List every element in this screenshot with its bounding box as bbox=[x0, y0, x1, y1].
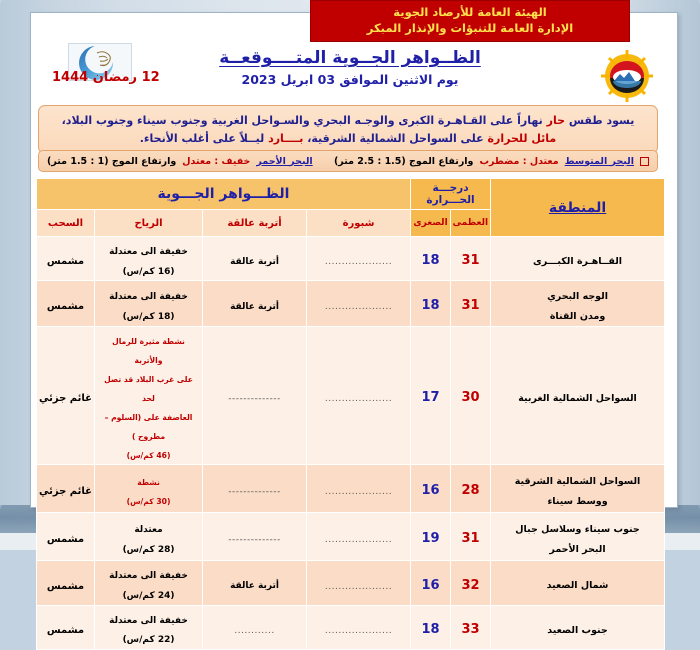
cell-region: السواحل الشمالية الشرقيةووسط سيناء bbox=[491, 465, 665, 513]
cell-fog-text: .................... bbox=[325, 257, 392, 267]
cell-clouds-text: مشمس bbox=[47, 534, 84, 545]
cell-temp-max-text: 32 bbox=[461, 578, 479, 593]
cell-dust: -------------- bbox=[203, 327, 307, 465]
cell-fog: .................... bbox=[307, 561, 411, 605]
table-row: جنوب الصعيد3318.........................… bbox=[37, 605, 665, 649]
cell-temp-min: 19 bbox=[411, 513, 451, 561]
table-header-row-1: المنطقة درجـــة الحـــرارة الظـــواهر ال… bbox=[37, 179, 665, 210]
cell-wind-text: خفيفة الى معتدلة(16 كم/س) bbox=[109, 247, 188, 277]
cell-fog-text: .................... bbox=[325, 535, 392, 545]
cell-temp-max-text: 31 bbox=[461, 253, 479, 268]
cell-temp-max-text: 33 bbox=[461, 622, 479, 637]
table-row: الوجه البحريومدن القناة3118.............… bbox=[37, 281, 665, 327]
summary-part-2: نهاراً على القـاهـرة الكبرى والوجـه البح… bbox=[62, 114, 547, 127]
cell-dust-text: ............ bbox=[234, 626, 274, 636]
cell-wind-text: نشطة(30 كم/س) bbox=[127, 478, 171, 506]
summary-cold-word: بــــارد bbox=[268, 132, 303, 145]
cell-temp-min-text: 17 bbox=[421, 390, 439, 405]
weather-summary: يسود طقس حار نهاراً على القـاهـرة الكبرى… bbox=[38, 105, 658, 154]
cell-temp-max-text: 31 bbox=[461, 298, 479, 313]
cell-temp-min: 18 bbox=[411, 605, 451, 649]
cell-wind-text: خفيفة الى معتدلة(22 كم/س) bbox=[109, 616, 188, 646]
table-row: السواحل الشمالية الغربية3017............… bbox=[37, 327, 665, 465]
hijri-date: 12 رمضان 1444 bbox=[52, 70, 160, 85]
cell-temp-min: 17 bbox=[411, 327, 451, 465]
cell-fog: .................... bbox=[307, 465, 411, 513]
cell-clouds: مشمس bbox=[37, 605, 95, 649]
bullet-square-icon bbox=[640, 157, 649, 166]
cell-clouds-text: مشمس bbox=[47, 581, 84, 592]
summary-part-3: على السواحل الشمالية الشرقية، bbox=[303, 132, 487, 145]
cell-clouds-text: مشمس bbox=[47, 256, 84, 267]
cell-clouds-text: غائم جزئي bbox=[39, 486, 92, 497]
cell-region-text: جنوب سيناء وسلاسل جبالالبحر الأحمر bbox=[515, 524, 640, 555]
cell-fog: .................... bbox=[307, 605, 411, 649]
cell-region: القــاهـرة الكبـــرى bbox=[491, 237, 665, 281]
mediterranean-wave: وارتفاع الموج (1.5 : 2.5 متر) bbox=[334, 156, 473, 167]
cell-fog-text: .................... bbox=[325, 487, 392, 497]
cell-clouds: مشمس bbox=[37, 513, 95, 561]
cell-fog-text: .................... bbox=[325, 626, 392, 636]
mediterranean-state: معتدل : مضطرب bbox=[479, 156, 558, 167]
cell-dust: أتربة عالقة bbox=[203, 281, 307, 327]
table-row: شمال الصعيد3216....................أتربة… bbox=[37, 561, 665, 605]
cell-wind-text: نشطة مثيرة للرمال والأتربةعلى غرب البلاد… bbox=[104, 337, 193, 460]
cell-temp-min: 18 bbox=[411, 281, 451, 327]
cell-fog-text: .................... bbox=[325, 582, 392, 592]
cell-clouds: مشمس bbox=[37, 281, 95, 327]
cell-fog: .................... bbox=[307, 327, 411, 465]
header-dust: أتربة عالقة bbox=[203, 210, 307, 237]
red-sea-wave: وارتفاع الموج (1 : 1.5 متر) bbox=[47, 156, 176, 167]
summary-part-1: يسود طقس bbox=[565, 114, 634, 127]
table-row: السواحل الشمالية الشرقيةووسط سيناء2816..… bbox=[37, 465, 665, 513]
cell-clouds: مشمس bbox=[37, 237, 95, 281]
cell-wind: نشطة مثيرة للرمال والأتربةعلى غرب البلاد… bbox=[95, 327, 203, 465]
cell-clouds-text: غائم جزئي bbox=[39, 393, 92, 404]
cell-region-text: شمال الصعيد bbox=[547, 580, 609, 591]
cell-region: شمال الصعيد bbox=[491, 561, 665, 605]
cell-temp-min-text: 18 bbox=[421, 253, 439, 268]
cell-clouds-text: مشمس bbox=[47, 301, 84, 312]
cell-region: جنوب الصعيد bbox=[491, 605, 665, 649]
cell-wind-text: خفيفة الى معتدلة(18 كم/س) bbox=[109, 292, 188, 322]
cell-dust: -------------- bbox=[203, 465, 307, 513]
cell-temp-min-text: 18 bbox=[421, 298, 439, 313]
cell-region-text: الوجه البحريومدن القناة bbox=[547, 291, 608, 322]
cell-fog: .................... bbox=[307, 513, 411, 561]
cell-temp-min-text: 16 bbox=[421, 578, 439, 593]
cell-dust-text: أتربة عالقة bbox=[230, 257, 279, 267]
cell-temp-max-text: 30 bbox=[461, 390, 479, 405]
ema-sun-logo bbox=[598, 50, 656, 102]
cell-fog-text: .................... bbox=[325, 394, 392, 404]
cell-wind: خفيفة الى معتدلة(18 كم/س) bbox=[95, 281, 203, 327]
header-fog: شبورة bbox=[307, 210, 411, 237]
cell-temp-min-text: 19 bbox=[421, 531, 439, 546]
cell-temp-max: 30 bbox=[451, 327, 491, 465]
cell-wind: نشطة(30 كم/س) bbox=[95, 465, 203, 513]
header-clouds: السحب bbox=[37, 210, 95, 237]
cell-region: جنوب سيناء وسلاسل جبالالبحر الأحمر bbox=[491, 513, 665, 561]
agency-banner: الهيئة العامة للأرصاد الجوية الإدارة الع… bbox=[310, 0, 630, 42]
mediterranean-label: البحر المتوسط bbox=[565, 156, 634, 167]
cell-temp-max: 31 bbox=[451, 513, 491, 561]
header-temp-max: العظمى bbox=[451, 210, 491, 237]
cell-region: الوجه البحريومدن القناة bbox=[491, 281, 665, 327]
cell-region-text: السواحل الشمالية الغربية bbox=[518, 393, 637, 404]
cell-dust-text: أتربة عالقة bbox=[230, 581, 279, 591]
agency-name: الهيئة العامة للأرصاد الجوية bbox=[393, 5, 546, 21]
forecast-table-body: القــاهـرة الكبـــرى3118................… bbox=[37, 237, 665, 650]
department-name: الإدارة العامة للتنبؤات والإنذار المبكر bbox=[367, 21, 573, 37]
cell-fog-text: .................... bbox=[325, 302, 392, 312]
cell-dust-text: -------------- bbox=[228, 394, 280, 404]
cell-wind: خفيفة الى معتدلة(16 كم/س) bbox=[95, 237, 203, 281]
cell-dust: أتربة عالقة bbox=[203, 561, 307, 605]
summary-mild-word: مائل للحرارة bbox=[488, 132, 557, 145]
cell-region-text: جنوب الصعيد bbox=[547, 625, 607, 636]
cell-region-text: السواحل الشمالية الشرقيةووسط سيناء bbox=[515, 476, 641, 507]
cell-wind: خفيفة الى معتدلة(22 كم/س) bbox=[95, 605, 203, 649]
cell-dust-text: أتربة عالقة bbox=[230, 302, 279, 312]
cell-fog: .................... bbox=[307, 281, 411, 327]
cell-dust-text: -------------- bbox=[228, 487, 280, 497]
header-temperature: درجـــة الحـــرارة bbox=[411, 179, 491, 210]
cell-temp-max: 32 bbox=[451, 561, 491, 605]
header-phenomena: الظـــواهر الجـــوية bbox=[37, 179, 411, 210]
cell-temp-max: 28 bbox=[451, 465, 491, 513]
cell-temp-min: 16 bbox=[411, 561, 451, 605]
cell-dust: ............ bbox=[203, 605, 307, 649]
cell-dust-text: -------------- bbox=[228, 535, 280, 545]
cell-fog: .................... bbox=[307, 237, 411, 281]
cell-region-text: القــاهـرة الكبـــرى bbox=[533, 256, 622, 267]
cell-wind: معتدلة(28 كم/س) bbox=[95, 513, 203, 561]
header-temp-min: الصغرى bbox=[411, 210, 451, 237]
cell-wind: خفيفة الى معتدلة(24 كم/س) bbox=[95, 561, 203, 605]
cell-wind-text: خفيفة الى معتدلة(24 كم/س) bbox=[109, 571, 188, 601]
cell-temp-max-text: 31 bbox=[461, 531, 479, 546]
table-row: القــاهـرة الكبـــرى3118................… bbox=[37, 237, 665, 281]
cell-dust: أتربة عالقة bbox=[203, 237, 307, 281]
cell-clouds: غائم جزئي bbox=[37, 327, 95, 465]
cell-clouds: مشمس bbox=[37, 561, 95, 605]
forecast-table: المنطقة درجـــة الحـــرارة الظـــواهر ال… bbox=[36, 178, 665, 650]
cell-clouds: غائم جزئي bbox=[37, 465, 95, 513]
summary-hot-word: حار bbox=[547, 114, 565, 127]
cell-dust: -------------- bbox=[203, 513, 307, 561]
cell-temp-min-text: 16 bbox=[421, 483, 439, 498]
cell-temp-min: 16 bbox=[411, 465, 451, 513]
red-sea-state: خفيف : معتدل bbox=[182, 156, 250, 167]
cell-temp-max: 31 bbox=[451, 281, 491, 327]
sea-conditions-strip: البحر المتوسط معتدل : مضطرب وارتفاع المو… bbox=[38, 150, 658, 172]
cell-temp-min: 18 bbox=[411, 237, 451, 281]
header-region: المنطقة bbox=[491, 179, 665, 237]
header-wind: الرياح bbox=[95, 210, 203, 237]
cell-temp-max: 31 bbox=[451, 237, 491, 281]
cell-temp-max-text: 28 bbox=[461, 483, 479, 498]
red-sea-label: البحر الأحمر bbox=[256, 156, 312, 167]
cell-clouds-text: مشمس bbox=[47, 625, 84, 636]
cell-temp-max: 33 bbox=[451, 605, 491, 649]
cell-region: السواحل الشمالية الغربية bbox=[491, 327, 665, 465]
cell-temp-min-text: 18 bbox=[421, 622, 439, 637]
table-row: جنوب سيناء وسلاسل جبالالبحر الأحمر3119..… bbox=[37, 513, 665, 561]
summary-part-4: ليــلاً على أغلب الأنحاء. bbox=[140, 132, 268, 145]
cell-wind-text: معتدلة(28 كم/س) bbox=[123, 525, 175, 555]
